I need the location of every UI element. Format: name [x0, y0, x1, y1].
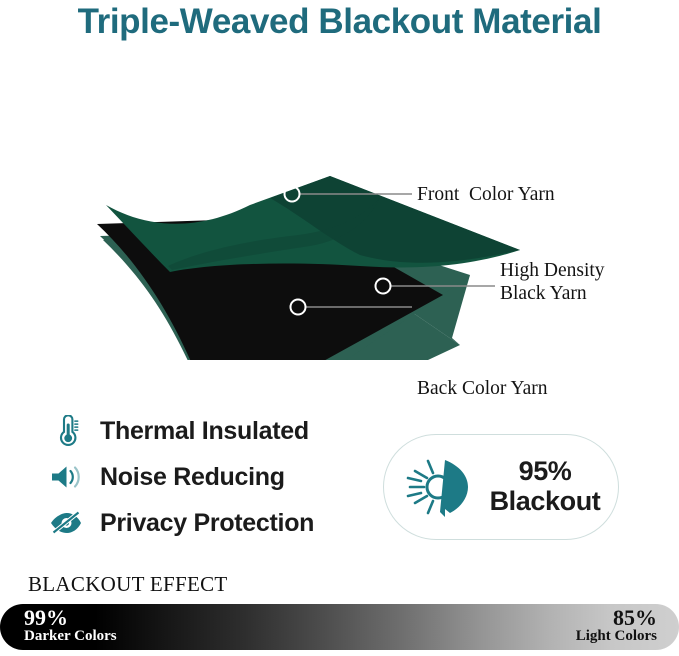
badge-text: 95% Blackout — [478, 457, 618, 516]
blackout-percentage-badge: 95% Blackout — [383, 434, 619, 540]
badge-word: Blackout — [478, 487, 612, 517]
feature-list: Thermal Insulated Noise Reducing Privacy… — [46, 408, 376, 546]
page-title: Triple-Weaved Blackout Material — [0, 2, 679, 42]
gradient-bar-left-percent: 99% — [24, 606, 117, 629]
speaker-icon — [46, 458, 86, 496]
gradient-bar-right-stat: 85% Light Colors — [576, 606, 657, 645]
gradient-bar-right-label: Light Colors — [576, 629, 657, 645]
gradient-bar-left-label: Darker Colors — [24, 629, 117, 645]
gradient-bar-right-percent: 85% — [576, 606, 657, 629]
blackout-effect-gradient-bar: 99% Darker Colors 85% Light Colors — [0, 604, 679, 650]
badge-percent: 95% — [478, 457, 612, 487]
eye-off-icon — [46, 504, 86, 542]
callout-label-high-density-black-yarn: High Density Black Yarn — [500, 259, 605, 305]
gradient-bar-left-stat: 99% Darker Colors — [24, 606, 117, 645]
feature-item-thermal-insulated: Thermal Insulated — [46, 408, 376, 454]
thermometer-icon — [46, 412, 86, 450]
fabric-layers-diagram: Front Color Yarn High Density Black Yarn… — [0, 80, 679, 360]
feature-label-privacy-protection: Privacy Protection — [100, 509, 314, 538]
blackout-effect-heading: BLACKOUT EFFECT — [28, 572, 228, 597]
fabric-layers-illustration — [0, 80, 679, 360]
feature-item-noise-reducing: Noise Reducing — [46, 454, 376, 500]
feature-label-thermal-insulated: Thermal Insulated — [100, 417, 309, 446]
callout-label-back-color-yarn: Back Color Yarn — [417, 377, 548, 400]
feature-label-noise-reducing: Noise Reducing — [100, 463, 285, 492]
feature-item-privacy-protection: Privacy Protection — [46, 500, 376, 546]
callout-label-front-color-yarn: Front Color Yarn — [417, 183, 555, 206]
sun-blocked-icon — [402, 453, 478, 521]
